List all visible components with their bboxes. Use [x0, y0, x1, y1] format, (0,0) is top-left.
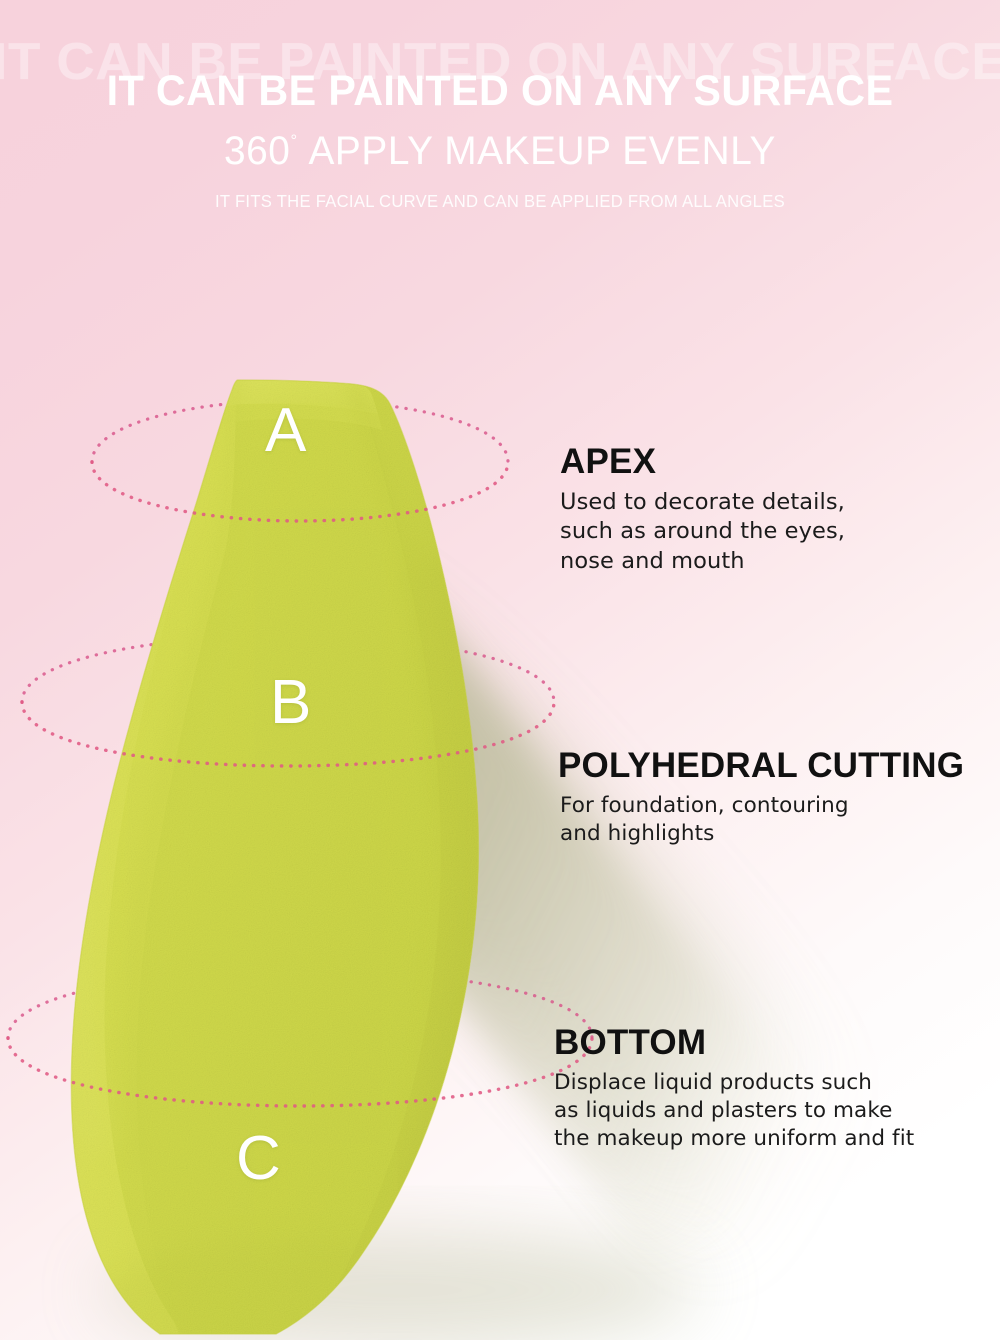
info-body-line: nose and mouth [560, 547, 845, 576]
info-body-line: and highlights [560, 820, 964, 848]
info-body-apex: Used to decorate details, such as around… [560, 488, 845, 576]
sponge-label-a: A [265, 400, 306, 462]
info-title-apex: APEX [560, 444, 845, 479]
infographic-canvas: A B C IT CAN BE PAINTED ON ANY SURFACE I… [0, 0, 1000, 1340]
sponge-label-c: C [236, 1128, 281, 1190]
degree-symbol-icon: ° [290, 131, 297, 150]
info-body-bottom: Displace liquid products such as liquids… [554, 1069, 914, 1153]
info-block-bottom: BOTTOM Displace liquid products such as … [554, 1025, 914, 1153]
headline-subtitle: IT FITS THE FACIAL CURVE AND CAN BE APPL… [25, 193, 975, 211]
info-block-polyhedral: POLYHEDRAL CUTTING For foundation, conto… [560, 748, 964, 848]
info-title-bottom: BOTTOM [554, 1025, 914, 1060]
header-banner: IT CAN BE PAINTED ON ANY SURFACE IT CAN … [0, 0, 1000, 240]
info-body-line: Displace liquid products such [554, 1069, 914, 1097]
info-body-line: such as around the eyes, [560, 517, 845, 546]
info-body-line: the makeup more uniform and fit [554, 1125, 914, 1153]
info-body-line: Used to decorate details, [560, 488, 845, 517]
info-block-apex: APEX Used to decorate details, such as a… [560, 444, 845, 576]
info-body-polyhedral: For foundation, contouring and highlight… [560, 792, 964, 848]
headline-secondary: 360° APPLY MAKEUP EVENLY [15, 131, 985, 171]
headline-360-rest: APPLY MAKEUP EVENLY [308, 129, 776, 173]
sponge-label-b: B [270, 672, 311, 734]
headline-360-number: 360 [224, 129, 290, 173]
info-body-line: as liquids and plasters to make [554, 1097, 914, 1125]
info-body-line: For foundation, contouring [560, 792, 964, 820]
info-title-polyhedral: POLYHEDRAL CUTTING [558, 748, 964, 783]
headline-primary: IT CAN BE PAINTED ON ANY SURFACE [20, 70, 980, 113]
